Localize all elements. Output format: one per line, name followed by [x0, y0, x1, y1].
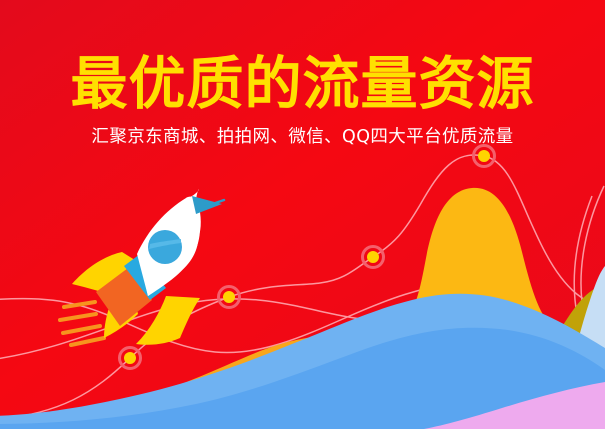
marker-dot-2	[223, 291, 235, 303]
marker-dot-4	[478, 150, 490, 162]
marker-dot-1	[124, 352, 136, 364]
banner-artwork	[0, 0, 605, 429]
marker-dot-3	[367, 251, 379, 263]
promo-banner: 最优质的流量资源 汇聚京东商城、拍拍网、微信、QQ四大平台优质流量	[0, 0, 605, 429]
